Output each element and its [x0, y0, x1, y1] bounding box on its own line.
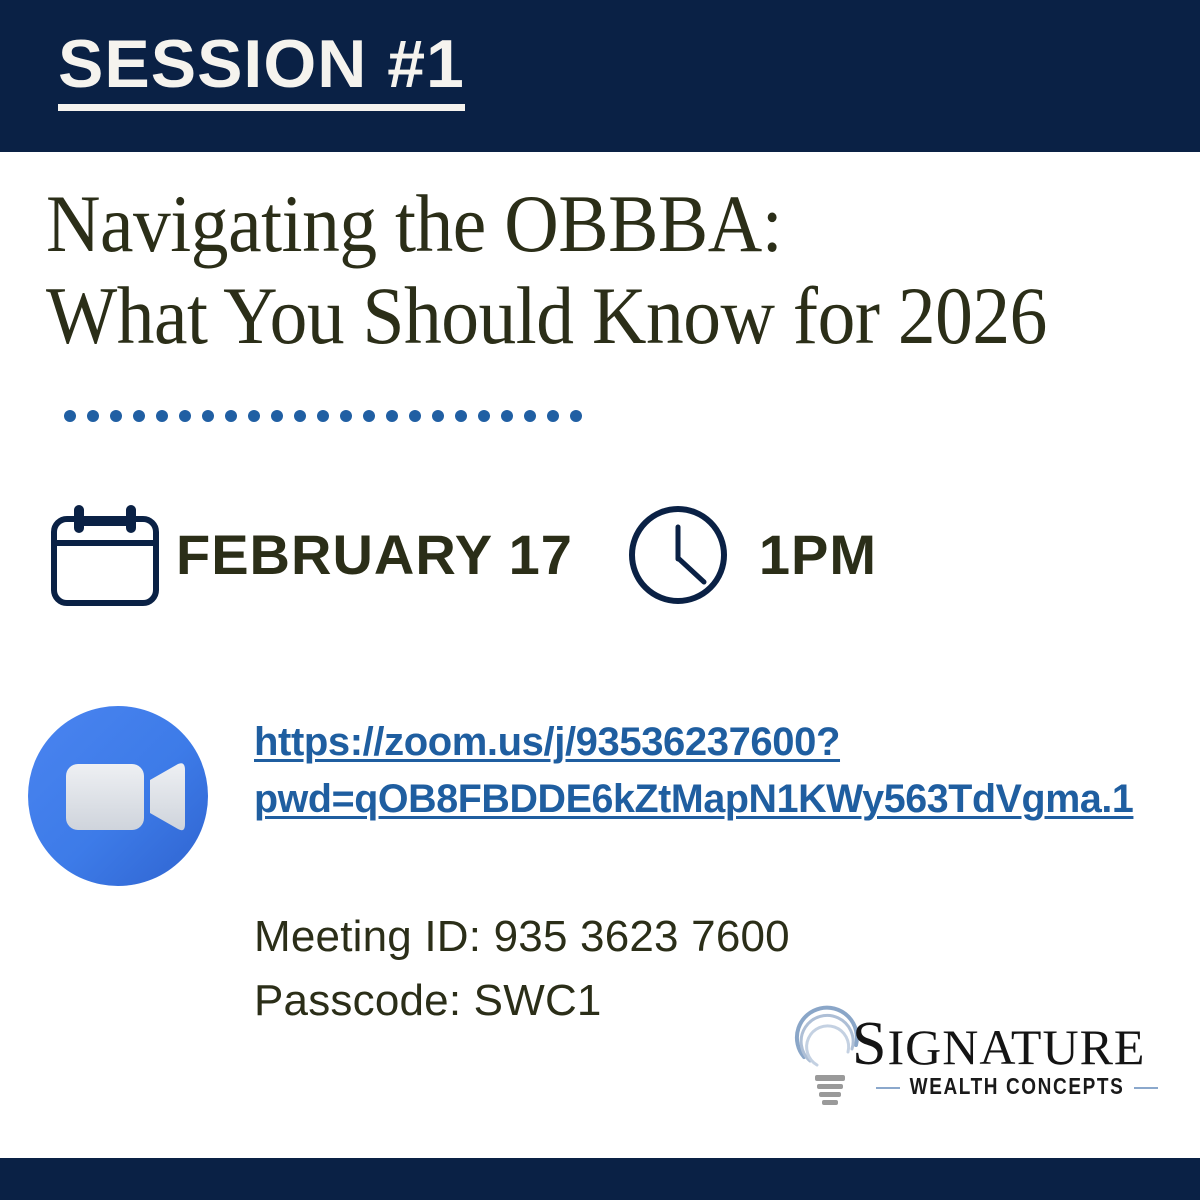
divider-dot [110, 410, 122, 422]
divider-dot [547, 410, 559, 422]
zoom-meeting-link[interactable]: https://zoom.us/j/93536237600? pwd=qOB8F… [254, 714, 1174, 828]
divider-dot [524, 410, 536, 422]
divider-dot [455, 410, 467, 422]
event-date: FEBRUARY 17 [176, 527, 573, 583]
logo-brand-rest: IGNATURE [887, 1019, 1145, 1075]
divider-dot [133, 410, 145, 422]
header-bar: SESSION #1 [0, 0, 1200, 152]
logo-rule-right [1134, 1087, 1158, 1089]
dotted-divider [64, 410, 582, 422]
divider-dot [87, 410, 99, 422]
divider-dot [294, 410, 306, 422]
company-logo: SIGNATURE WEALTH CONCEPTS [790, 1005, 1160, 1115]
webinar-flyer: SESSION #1 Navigating the OBBBA: What Yo… [0, 0, 1200, 1200]
divider-dot [478, 410, 490, 422]
title-line-1: Navigating the OBBBA: [46, 178, 1076, 270]
title-line-2: What You Should Know for 2026 [46, 270, 1076, 362]
event-time: 1PM [759, 527, 877, 583]
divider-dot [317, 410, 329, 422]
divider-dot [225, 410, 237, 422]
zoom-url-line-2[interactable]: pwd=qOB8FBDDE6kZtMapN1KWy563TdVgma.1 [254, 771, 1160, 828]
divider-dot [271, 410, 283, 422]
meeting-id: Meeting ID: 935 3623 7600 [254, 905, 790, 969]
page-title: Navigating the OBBBA: What You Should Kn… [46, 178, 1166, 362]
divider-dot [340, 410, 352, 422]
logo-brand-cap: S [852, 1010, 887, 1078]
logo-wordmark: SIGNATURE [852, 1013, 1145, 1075]
divider-dot [156, 410, 168, 422]
divider-dot [179, 410, 191, 422]
zoom-video-camera-icon [22, 700, 214, 892]
divider-dot [501, 410, 513, 422]
divider-dot [248, 410, 260, 422]
logo-tagline-row: WEALTH CONCEPTS [876, 1077, 1158, 1099]
divider-dot [363, 410, 375, 422]
session-label: SESSION #1 [58, 30, 465, 111]
zoom-url-line-1[interactable]: https://zoom.us/j/93536237600? [254, 714, 1174, 771]
divider-dot [386, 410, 398, 422]
divider-dot [432, 410, 444, 422]
calendar-icon [48, 500, 168, 610]
footer-bar [0, 1158, 1200, 1200]
event-datetime-row: FEBRUARY 17 1PM [48, 500, 877, 610]
meeting-details: Meeting ID: 935 3623 7600 Passcode: SWC1 [254, 905, 790, 1033]
divider-dot [570, 410, 582, 422]
divider-dot [202, 410, 214, 422]
meeting-passcode: Passcode: SWC1 [254, 969, 790, 1033]
divider-dot [409, 410, 421, 422]
divider-dot [64, 410, 76, 422]
clock-icon [619, 505, 737, 605]
logo-tagline: WEALTH CONCEPTS [910, 1075, 1125, 1101]
logo-rule-left [876, 1087, 900, 1089]
